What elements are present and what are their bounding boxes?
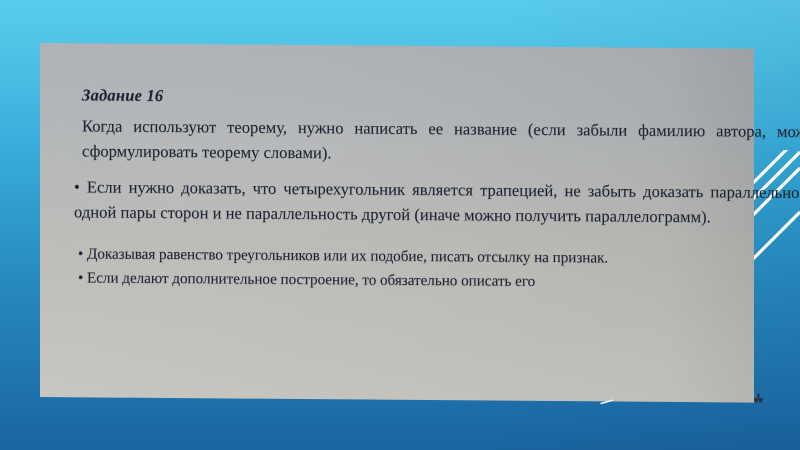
bullet-list: • Доказывая равенство треугольников или …	[78, 243, 760, 295]
paragraph-trapezoid-rule: • Если нужно доказать, что четырехугольн…	[74, 174, 800, 230]
paper-sheet: Задание 16 Когда используют теорему, нуж…	[40, 43, 754, 403]
paragraph-intro: Когда используют теорему, нужно написать…	[82, 113, 800, 169]
document-text-block: Задание 16 Когда используют теорему, нуж…	[60, 87, 760, 295]
slide-screenshot: Задание 16 Когда используют теорему, нуж…	[0, 0, 800, 450]
